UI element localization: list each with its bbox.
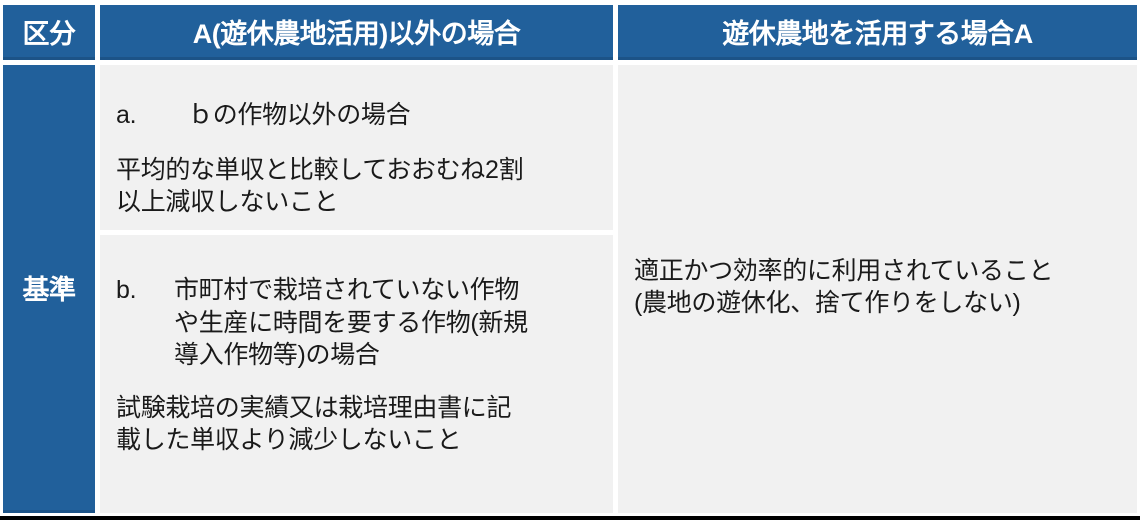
item-a-detail-text: 平均的な単収と比較しておおむね2割 以上減収しないこと bbox=[116, 154, 597, 218]
row-label-kijun: 基準 bbox=[3, 65, 95, 513]
item-a-marker: a. bbox=[116, 99, 188, 132]
item-b-heading-text: 市町村で栽培されていない作物 や生産に時間を要する作物(新規 導入作物等)の場合 bbox=[174, 274, 597, 372]
criteria-table: 区分 A(遊休農地活用)以外の場合 遊休農地を活用する場合A 基準 a. ｂの作… bbox=[0, 0, 1140, 521]
bottom-divider-rule bbox=[0, 516, 1140, 520]
header-cell-non-idle-farmland: A(遊休農地活用)以外の場合 bbox=[100, 5, 613, 60]
item-b-marker: b. bbox=[116, 274, 174, 307]
item-a-heading-row: a. ｂの作物以外の場合 bbox=[116, 99, 597, 132]
item-b-detail-text: 試験栽培の実績又は栽培理由書に記 載した単収より減少しないこと bbox=[116, 392, 597, 456]
cell-item-a: a. ｂの作物以外の場合 平均的な単収と比較しておおむね2割 以上減収しないこと bbox=[100, 65, 613, 230]
header-cell-kubun: 区分 bbox=[3, 5, 95, 60]
item-a-heading-text: ｂの作物以外の場合 bbox=[188, 99, 597, 132]
cell-idle-farmland-criteria: 適正かつ効率的に利用されていること (農地の遊休化、捨て作りをしない) bbox=[618, 65, 1137, 513]
header-cell-idle-farmland: 遊休農地を活用する場合A bbox=[618, 5, 1137, 60]
cell-item-b: b. 市町村で栽培されていない作物 や生産に時間を要する作物(新規 導入作物等)… bbox=[100, 235, 613, 513]
item-b-heading-row: b. 市町村で栽培されていない作物 や生産に時間を要する作物(新規 導入作物等)… bbox=[116, 274, 597, 372]
idle-farmland-criteria-text: 適正かつ効率的に利用されていること (農地の遊休化、捨て作りをしない) bbox=[634, 255, 1121, 320]
